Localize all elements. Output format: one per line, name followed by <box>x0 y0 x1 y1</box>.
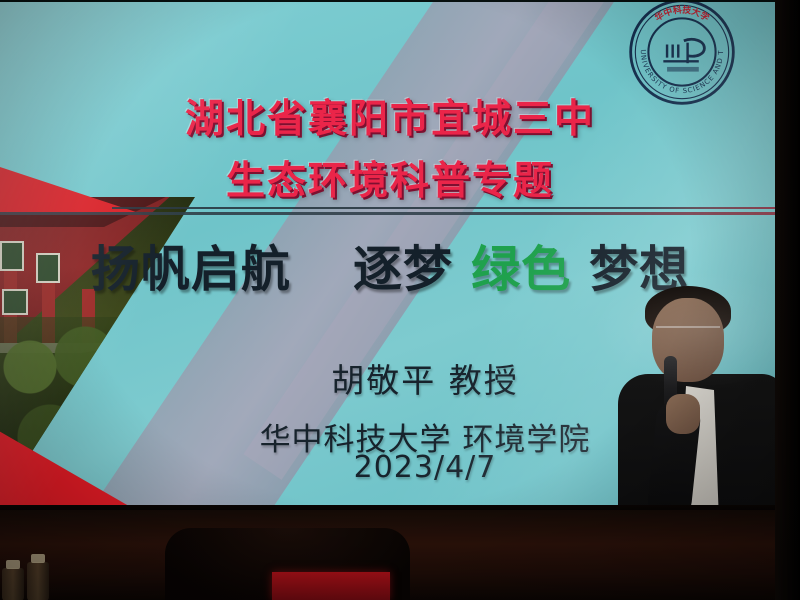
water-bottle <box>2 568 24 600</box>
title-divider-upper <box>112 207 780 209</box>
photo-scene: 华中科技大学 HUAZHONG UNIVERSITY OF SCIENCE AN… <box>0 0 800 600</box>
bottle-cap <box>6 560 20 569</box>
red-display-panel <box>272 572 390 600</box>
bottle-cap <box>31 554 45 563</box>
svg-text:华中科技大学: 华中科技大学 <box>652 4 711 24</box>
presenter-hand <box>666 394 700 434</box>
slide-title-line2: 生态环境科普专题 <box>0 150 780 206</box>
slide-title-line1: 湖北省襄阳市宜城三中 <box>0 88 780 144</box>
headline-part1: 扬帆启航 <box>91 241 291 298</box>
headline-highlight: 绿色 <box>471 241 571 298</box>
water-bottle <box>27 562 49 600</box>
glasses-icon <box>656 326 720 337</box>
presenter-head <box>652 298 724 382</box>
right-wall-shadow <box>775 0 800 600</box>
headline-part2: 逐梦 <box>353 241 453 298</box>
title-divider <box>0 212 780 215</box>
